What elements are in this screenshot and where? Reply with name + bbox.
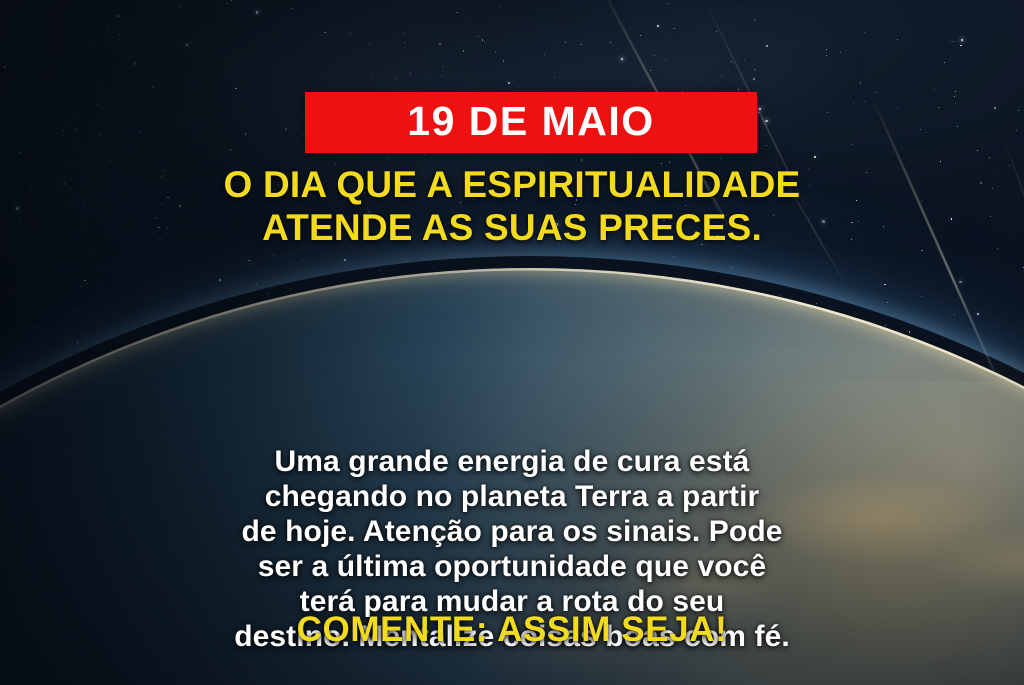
headline-line-1: O DIA QUE A ESPIRITUALIDADE [40,164,984,207]
body-copy-line-2: chegando no planeta Terra a partir [34,479,990,514]
body-copy-line-1: Uma grande energia de cura está [34,444,990,479]
call-to-action-text: COMENTE: ASSIM SEJA! [297,610,728,649]
poster-canvas: 19 DE MAIO O DIA QUE A ESPIRITUALIDADE A… [0,0,1024,685]
headline: O DIA QUE A ESPIRITUALIDADE ATENDE AS SU… [0,164,1024,250]
date-banner-text: 19 DE MAIO [407,101,654,142]
call-to-action: COMENTE: ASSIM SEJA! [0,611,1024,650]
body-copy-line-4: ser a última oportunidade que você [34,549,990,584]
headline-line-2: ATENDE AS SUAS PRECES. [40,207,984,250]
date-banner: 19 DE MAIO [305,92,757,153]
body-copy-line-3: de hoje. Atenção para os sinais. Pode [34,514,990,549]
poster-content: 19 DE MAIO O DIA QUE A ESPIRITUALIDADE A… [0,0,1024,685]
